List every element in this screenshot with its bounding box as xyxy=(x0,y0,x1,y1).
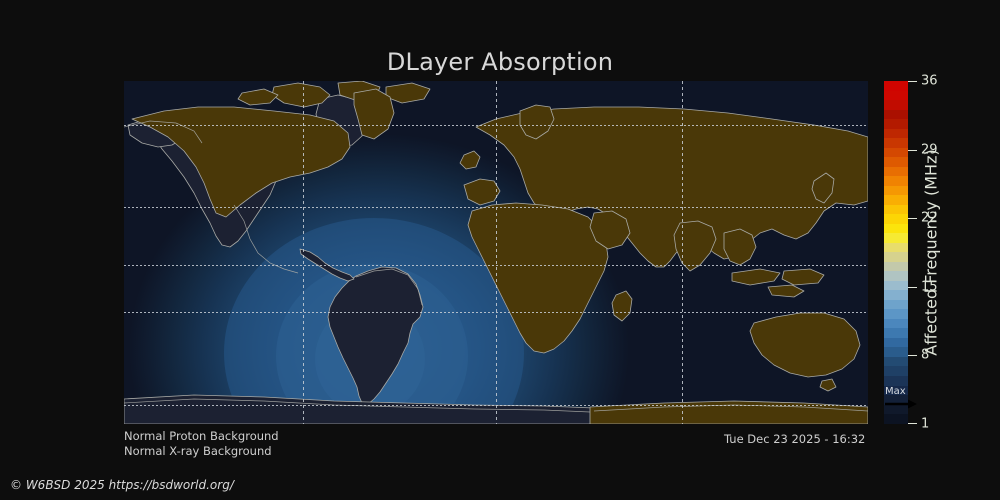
status-messages: Normal Proton Background Normal X-ray Ba… xyxy=(124,429,279,459)
colorbar-segment xyxy=(884,281,908,291)
colorbar-segment xyxy=(884,366,908,376)
colorbar-segment xyxy=(884,100,908,110)
colorbar-segment xyxy=(884,214,908,224)
colorbar-segment xyxy=(884,290,908,300)
timestamp: Tue Dec 23 2025 - 16:32 xyxy=(724,432,865,446)
colorbar-segment xyxy=(884,195,908,205)
colorbar-segment xyxy=(884,309,908,319)
colorbar-segment xyxy=(884,300,908,310)
colorbar-axis-label-wrap: Affected Frequency (MHz) xyxy=(916,81,946,424)
dlayer-absorption-map-page: DLayer Absorption xyxy=(0,0,1000,500)
colorbar-segment xyxy=(884,262,908,272)
colorbar-segment xyxy=(884,224,908,234)
colorbar-segment xyxy=(884,167,908,177)
colorbar-segment xyxy=(884,205,908,215)
colorbar-segment xyxy=(884,328,908,338)
colorbar-segment xyxy=(884,233,908,243)
colorbar-segment xyxy=(884,243,908,253)
page-title: DLayer Absorption xyxy=(0,48,1000,76)
colorbar-segment xyxy=(884,119,908,129)
colorbar-segment xyxy=(884,271,908,281)
colorbar-segment xyxy=(884,91,908,101)
colorbar[interactable]: 3629221581 xyxy=(884,81,908,424)
colorbar-segment xyxy=(884,157,908,167)
colorbar-segment xyxy=(884,138,908,148)
colorbar-gradient xyxy=(884,81,908,424)
colorbar-segment xyxy=(884,319,908,329)
map-canvas xyxy=(124,81,868,424)
colorbar-segment xyxy=(884,338,908,348)
colorbar-segment xyxy=(884,252,908,262)
max-arrow-icon xyxy=(884,399,918,409)
copyright-notice: © W6BSD 2025 https://bsdworld.org/ xyxy=(10,478,234,492)
colorbar-segment xyxy=(884,129,908,139)
world-map[interactable] xyxy=(124,81,868,424)
colorbar-segment xyxy=(884,148,908,158)
colorbar-segment xyxy=(884,347,908,357)
colorbar-max-label: Max xyxy=(885,387,906,397)
colorbar-segment xyxy=(884,414,908,424)
colorbar-segment xyxy=(884,357,908,367)
colorbar-segment xyxy=(884,186,908,196)
colorbar-segment xyxy=(884,176,908,186)
colorbar-segment xyxy=(884,81,908,91)
colorbar-segment xyxy=(884,110,908,120)
colorbar-axis-label: Affected Frequency (MHz) xyxy=(922,149,941,355)
colorbar-segment xyxy=(884,376,908,386)
status-proton-background: Normal Proton Background xyxy=(124,429,279,444)
status-xray-background: Normal X-ray Background xyxy=(124,444,279,459)
